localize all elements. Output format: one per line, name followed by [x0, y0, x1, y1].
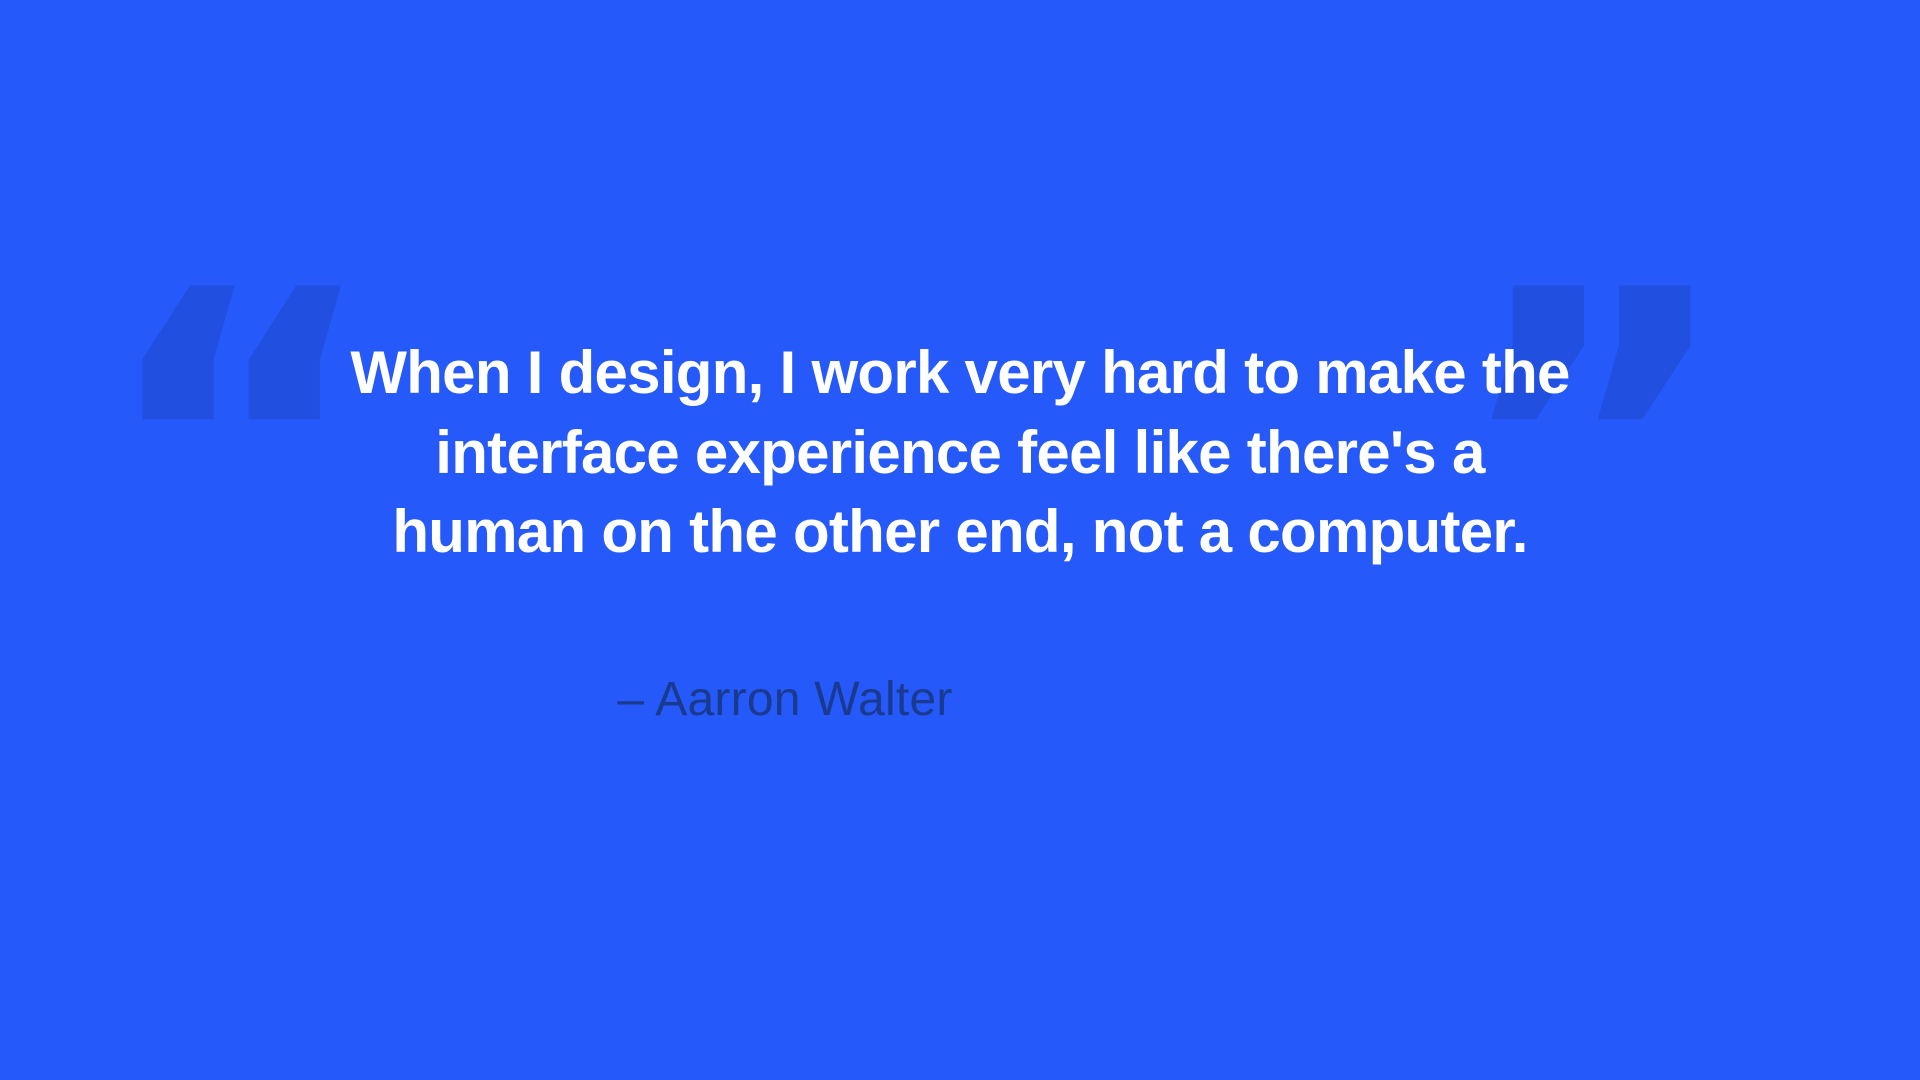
- quote-content: When I design, I work very hard to make …: [0, 0, 1920, 1080]
- quote-line-1: When I design, I work very hard to make …: [200, 333, 1720, 413]
- quote-line-2: interface experience feel like there's a: [200, 413, 1720, 493]
- quote-attribution: – Aarron Walter: [617, 672, 952, 727]
- quote-text: When I design, I work very hard to make …: [200, 333, 1720, 572]
- quote-slide: “ ” When I design, I work very hard to m…: [0, 0, 1920, 1080]
- quote-line-3: human on the other end, not a computer.: [200, 492, 1720, 572]
